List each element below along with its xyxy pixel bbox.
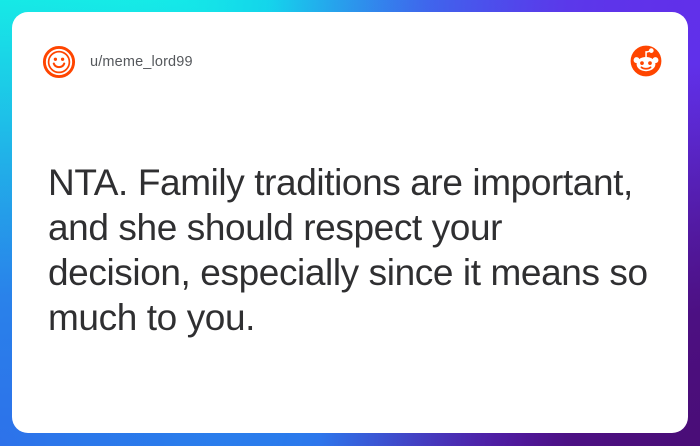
comment-header: u/meme_lord99 [42,41,660,83]
reddit-comment-card: u/meme_lord99 NTA. Family traditions are… [12,12,688,433]
reddit-snoo-logo-icon[interactable] [630,45,662,77]
avatar[interactable] [42,45,76,79]
screenshot-canvas: u/meme_lord99 NTA. Family traditions are… [0,0,700,446]
username-label: u/meme_lord99 [90,54,193,70]
smiley-face-avatar-icon [42,45,76,79]
comment-body-text: NTA. Family traditions are important, an… [48,160,652,340]
